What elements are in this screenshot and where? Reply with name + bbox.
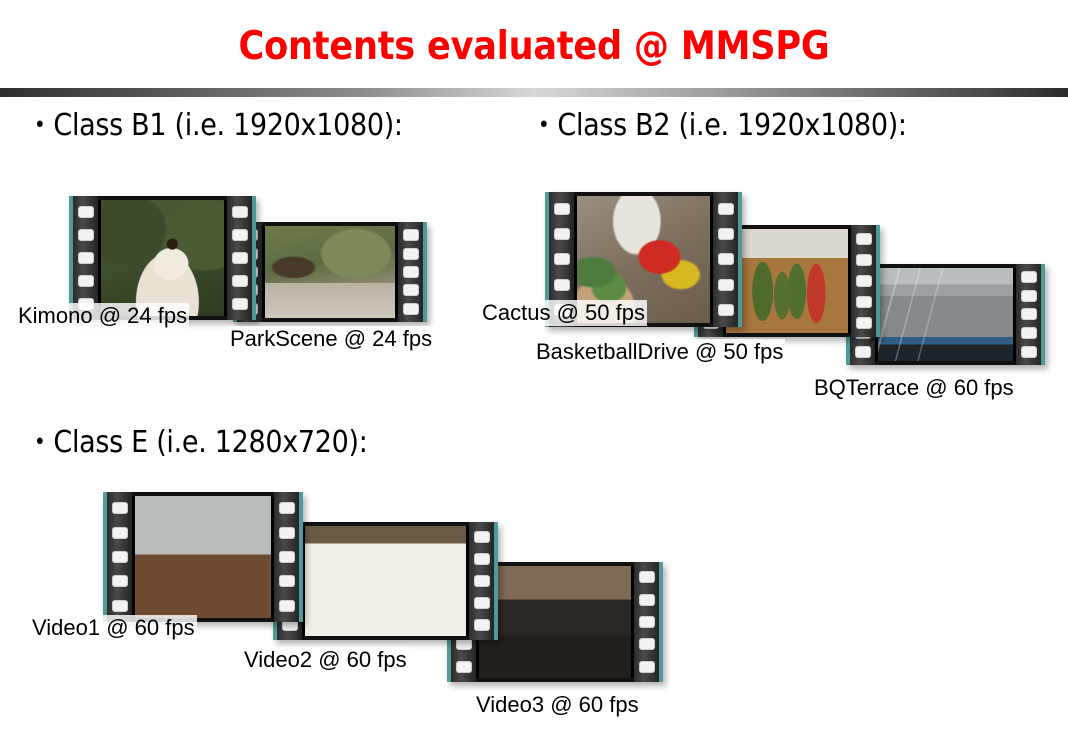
caption-kimono: Kimono @ 24 fps <box>16 303 189 329</box>
section-heading-label: Class B2 (i.e. 1920x1080): <box>557 108 906 143</box>
caption-bqterrace: BQTerrace @ 60 fps <box>812 375 1016 401</box>
caption-parkscene: ParkScene @ 24 fps <box>228 326 434 352</box>
section-heading-label: Class B1 (i.e. 1920x1080): <box>53 108 402 143</box>
thumbnail-video2 <box>302 526 469 636</box>
bullet-dot-icon: • <box>34 113 45 138</box>
film-perforations-right <box>398 222 423 322</box>
film-strip-video2[interactable] <box>273 522 498 640</box>
thumbnail-basketballdrive <box>723 229 851 333</box>
film-strip-video1[interactable] <box>103 492 303 622</box>
section-heading-class-b1: •Class B1 (i.e. 1920x1080): <box>34 108 403 143</box>
bullet-dot-icon: • <box>34 430 45 455</box>
bullet-dot-icon: • <box>538 113 549 138</box>
film-strip-kimono[interactable] <box>69 196 256 320</box>
thumbnail-video3 <box>476 566 634 678</box>
thumbnail-parkscene <box>262 226 398 318</box>
film-perforations-right <box>227 196 252 320</box>
film-perforations-right <box>634 562 659 682</box>
film-perforations-left <box>107 492 132 622</box>
film-perforations-right <box>1016 264 1041 365</box>
caption-video2: Video2 @ 60 fps <box>242 647 409 673</box>
thumbnail-kimono <box>98 200 227 316</box>
caption-cactus: Cactus @ 50 fps <box>480 300 647 326</box>
caption-video3: Video3 @ 60 fps <box>474 692 641 718</box>
thumbnail-bqterrace <box>875 268 1016 361</box>
film-perforations-right <box>713 192 738 327</box>
caption-basketballdrive: BasketballDrive @ 50 fps <box>534 339 785 365</box>
thumbnail-video1 <box>132 496 274 618</box>
section-heading-label: Class E (i.e. 1280x720): <box>53 425 367 460</box>
film-perforations-right <box>469 522 494 640</box>
section-heading-class-e: •Class E (i.e. 1280x720): <box>34 425 368 460</box>
section-heading-class-b2: •Class B2 (i.e. 1920x1080): <box>538 108 907 143</box>
film-perforations-right <box>851 225 876 337</box>
film-strip-parkscene[interactable] <box>233 222 427 322</box>
page-title: Contents evaluated @ MMSPG <box>0 24 1068 69</box>
caption-video1: Video1 @ 60 fps <box>30 615 197 641</box>
title-separator-rule <box>0 88 1068 97</box>
film-perforations-left <box>73 196 98 320</box>
film-perforations-right <box>274 492 299 622</box>
